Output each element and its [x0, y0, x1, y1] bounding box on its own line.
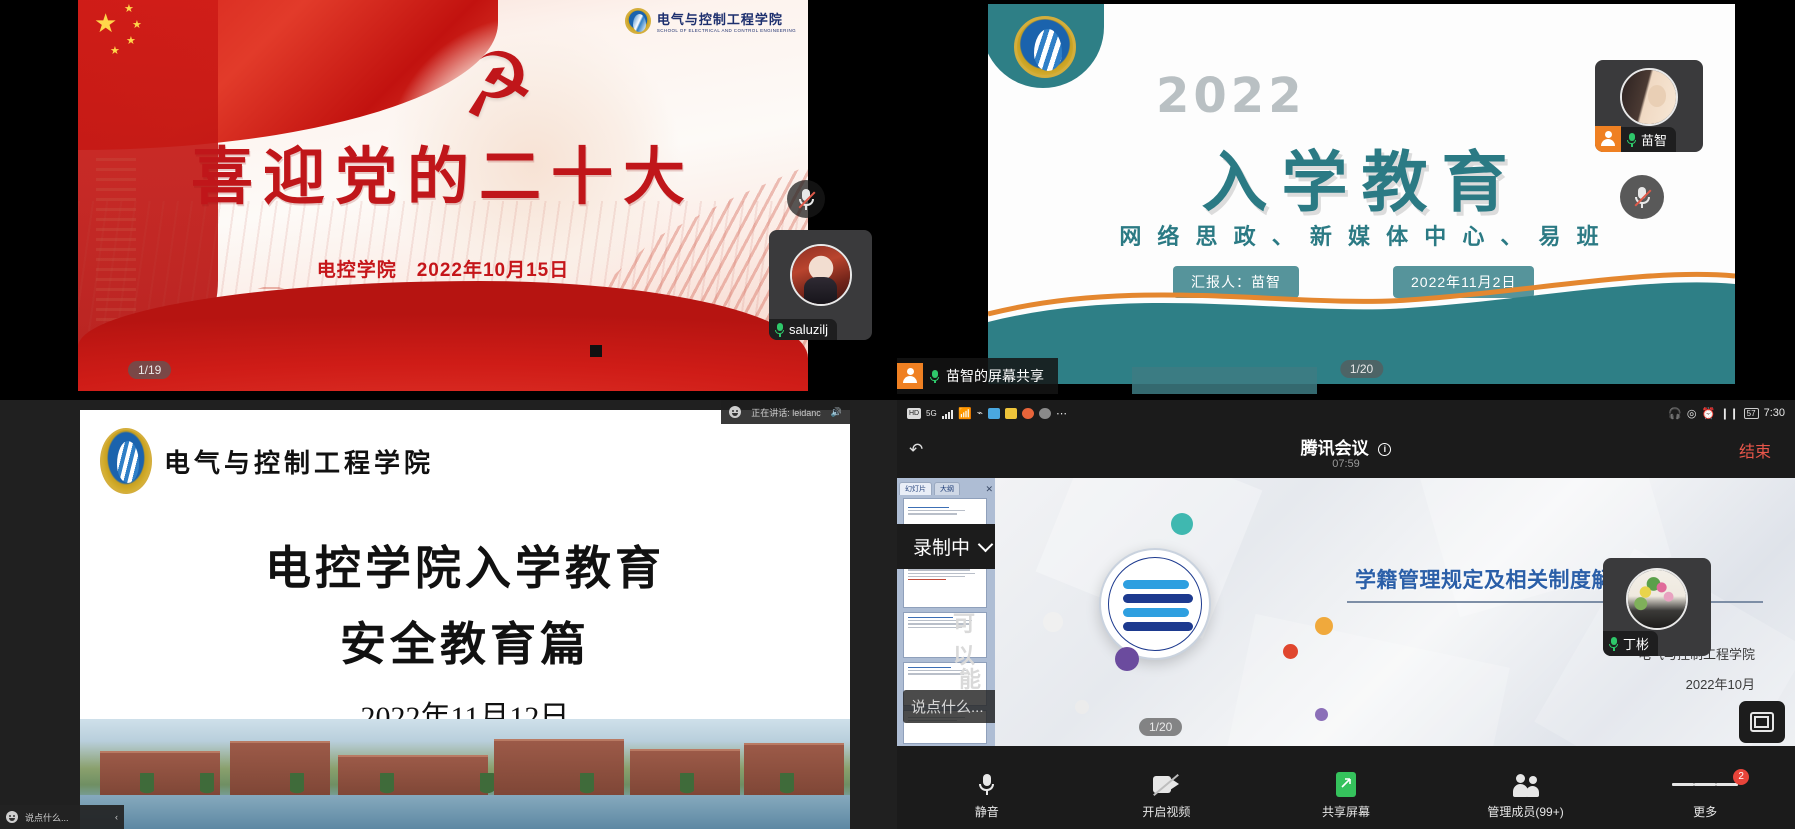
- avatar: [790, 244, 852, 306]
- participant-name-row: 丁彬: [1603, 631, 1658, 656]
- hd-badge-icon: HD: [907, 408, 921, 419]
- toolbar-mute-label: 静音: [975, 803, 999, 820]
- microphone-muted-icon: [1635, 187, 1650, 208]
- school-logo: 电气与控制工程学院: [100, 428, 434, 494]
- headphones-icon: 🎧: [1668, 407, 1682, 420]
- recording-label: 录制中: [913, 533, 970, 560]
- toolbar-more-label: 更多: [1693, 803, 1717, 820]
- phone-status-bar: HD 5G 📶 ⌁ ⋯ 🎧 ◎ ⏰ ❙❙ 57 7:30: [897, 400, 1795, 426]
- campus-photo: [80, 719, 850, 829]
- network-label: 5G: [926, 409, 937, 418]
- school-logo: 电气与控制工程学院 SCHOOL OF ELECTRICAL AND CONTR…: [625, 8, 796, 34]
- clock-label: 7:30: [1764, 407, 1785, 419]
- avatar: [1620, 68, 1678, 126]
- participant-tile-saluzilj[interactable]: saluzilj: [769, 230, 872, 340]
- microphone-muted-icon: [799, 189, 814, 210]
- toolbar-share-button[interactable]: 共享屏幕: [1276, 773, 1416, 820]
- school-seal-icon: [625, 8, 651, 34]
- slide-page-indicator: 1/20: [1340, 360, 1383, 378]
- phone-tencent-meeting-panel: HD 5G 📶 ⌁ ⋯ 🎧 ◎ ⏰ ❙❙ 57 7:30 ↶: [897, 400, 1795, 829]
- participant-name: saluzilj: [789, 322, 828, 337]
- end-meeting-button[interactable]: 结束: [1739, 438, 1771, 462]
- floating-window-button[interactable]: [1739, 701, 1785, 743]
- toolbar-share-label: 共享屏幕: [1322, 803, 1370, 820]
- toolbar-video-button[interactable]: 开启视频: [1096, 773, 1236, 820]
- slide-year: 2022: [1156, 68, 1306, 124]
- participant-name: 苗智: [1641, 130, 1667, 149]
- orientation-education-slide-panel: 2022 入学教育 网 络 思 政 、 新 媒 体 中 心 、 易 班 汇报人：…: [897, 0, 1795, 400]
- hamburger-icon: [1672, 773, 1738, 797]
- meeting-title-text: 腾讯会议: [1301, 439, 1369, 458]
- microphone-icon: [1609, 637, 1618, 650]
- star-icon: ★: [110, 46, 120, 57]
- alarm-icon: ⏰: [1702, 407, 1716, 420]
- meeting-timer: 07:59: [897, 458, 1795, 470]
- cursor-block: [590, 345, 602, 357]
- slide-subtitle: 网 络 思 政 、 新 媒 体 中 心 、 易 班: [988, 219, 1735, 251]
- self-mute-button[interactable]: [787, 180, 825, 218]
- screen-share-status-text: 苗智的屏幕共享: [946, 366, 1044, 386]
- participant-tile-miaozhi[interactable]: 苗智: [1595, 60, 1703, 152]
- app-icon-gray: [1039, 408, 1051, 419]
- toolbar-more-button[interactable]: 2 更多: [1635, 773, 1775, 820]
- slide-subtitle: 电控学院 2022年10月15日: [78, 255, 808, 282]
- slide-title-line1: 电控学院入学教育: [80, 532, 850, 598]
- meeting-toolbar: 静音 开启视频 共享屏幕 管理成员(99+) 2: [897, 763, 1795, 829]
- app-icon-blue: [988, 408, 1000, 419]
- participant-tile-dingbin[interactable]: 丁彬: [1603, 558, 1711, 656]
- avatar: [1626, 568, 1688, 630]
- toolbar-mute-button[interactable]: 静音: [917, 773, 1057, 820]
- speaking-status-text: 正在讲话: leidanc: [751, 406, 821, 419]
- battery-icon: 57: [1744, 408, 1759, 419]
- tab-slides[interactable]: 幻灯片: [899, 482, 932, 495]
- toolbar-members-button[interactable]: 管理成员(99+): [1456, 773, 1596, 820]
- microphone-icon: [775, 323, 784, 336]
- tab-outline[interactable]: 大纲: [934, 482, 960, 495]
- ppt-thumbnail-pane[interactable]: 幻灯片 大纲 ✕: [897, 478, 995, 746]
- school-name-en: SCHOOL OF ELECTRICAL AND CONTROL ENGINEE…: [657, 28, 796, 33]
- camera-off-icon: [1153, 773, 1179, 797]
- self-mute-button[interactable]: [1620, 175, 1664, 219]
- host-badge-icon: [1595, 126, 1621, 152]
- slide-title: 喜迎党的二十大: [78, 126, 808, 216]
- screenshot-root: ★ ★ ★ ★ ★ ☭ 喜迎党的二十大 电控学院 2022年10月15日 电气与…: [0, 0, 1795, 829]
- signal-bars-icon: [942, 408, 954, 419]
- people-icon: [1513, 773, 1539, 797]
- school-seal-icon: [100, 428, 152, 494]
- party-congress-slide-panel: ★ ★ ★ ★ ★ ☭ 喜迎党的二十大 电控学院 2022年10月15日 电气与…: [0, 0, 897, 400]
- chat-placeholder: 说点什么...: [25, 811, 69, 824]
- slide-canvas-party: ★ ★ ★ ★ ★ ☭ 喜迎党的二十大 电控学院 2022年10月15日 电气与…: [78, 0, 808, 391]
- shared-slide-title: 学籍管理规定及相关制度解读: [1355, 564, 1635, 594]
- vibrate-icon: ❙❙: [1720, 407, 1738, 420]
- toolbar-members-label: 管理成员(99+): [1487, 803, 1563, 820]
- toolbar-video-label: 开启视频: [1142, 803, 1190, 820]
- bluetooth-icon: ⌁: [977, 408, 983, 419]
- host-badge-icon: [897, 363, 923, 389]
- school-seal-icon: [1014, 16, 1076, 78]
- speaker-icon: [729, 406, 741, 418]
- emoji-icon[interactable]: [6, 811, 18, 823]
- participant-name-row: saluzilj: [769, 319, 837, 340]
- star-icon: ★: [126, 36, 136, 47]
- speaking-status-bar: 正在讲话: leidanc 🔊: [721, 400, 850, 424]
- star-icon: ★: [94, 10, 117, 36]
- app-icon-yellow: [1005, 408, 1017, 419]
- share-screen-icon: [1336, 773, 1356, 797]
- meeting-title: 腾讯会议 i: [897, 434, 1795, 459]
- university-logo-icon: [1099, 548, 1211, 660]
- slide-title-line2: 安全教育篇: [80, 608, 850, 674]
- wifi-icon: 📶: [958, 407, 972, 420]
- app-icon-orange: [1022, 408, 1034, 419]
- slide-page-indicator: 1/19: [128, 361, 171, 379]
- more-dots-icon: ⋯: [1056, 407, 1067, 420]
- eye-icon: ◎: [1687, 407, 1697, 420]
- safety-education-slide-panel: 电气与控制工程学院 电控学院入学教育 安全教育篇 2022年11月12日: [0, 400, 897, 829]
- recording-status-button[interactable]: 录制中: [897, 524, 1009, 569]
- arrow-up-icon: [1341, 778, 1351, 788]
- teal-strip-decoration: [1132, 367, 1317, 394]
- close-icon[interactable]: ✕: [985, 484, 993, 495]
- floating-window-icon: [1750, 712, 1774, 732]
- school-name-cn: 电气与控制工程学院: [164, 443, 434, 480]
- microphone-icon: [930, 370, 939, 383]
- info-icon[interactable]: i: [1378, 443, 1391, 456]
- school-name-cn: 电气与控制工程学院: [657, 9, 796, 28]
- shared-slide-page-indicator: 1/20: [1139, 718, 1182, 736]
- shared-slide-date: 2022年10月: [1686, 674, 1755, 693]
- screen-share-status: 苗智的屏幕共享: [897, 358, 1058, 394]
- microphone-icon: [1627, 133, 1636, 146]
- microphone-icon: [979, 773, 994, 797]
- chevron-down-icon[interactable]: [978, 536, 994, 552]
- participant-name-row: 苗智: [1621, 127, 1676, 152]
- slide-canvas-safety: 电气与控制工程学院 电控学院入学教育 安全教育篇 2022年11月12日: [80, 410, 850, 829]
- star-icon: ★: [132, 20, 142, 31]
- water-reflection: [80, 795, 850, 829]
- participant-name: 丁彬: [1623, 634, 1649, 653]
- ppt-tabs[interactable]: 幻灯片 大纲 ✕: [899, 480, 993, 495]
- star-icon: ★: [124, 4, 134, 15]
- chevron-left-icon[interactable]: ‹: [115, 812, 118, 822]
- overlay-word-1: 可以: [953, 606, 995, 670]
- notification-badge: 2: [1733, 769, 1749, 785]
- volume-icon: 🔊: [831, 407, 842, 418]
- hammer-sickle-icon: ☭: [452, 37, 540, 133]
- chat-input-bar[interactable]: 说点什么... ‹: [0, 805, 124, 829]
